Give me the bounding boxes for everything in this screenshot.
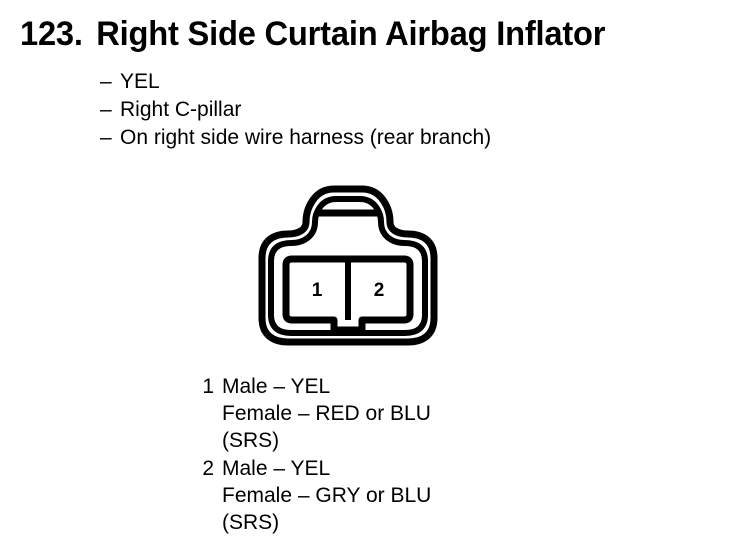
- pin-legend-line: Female – RED or BLU: [222, 400, 616, 427]
- connector-cavity-number-2: 2: [374, 280, 385, 301]
- description-item-1: –Right C-pillar: [100, 96, 700, 124]
- description-item-label: Right C-pillar: [120, 98, 241, 121]
- description-item-label: On right side wire harness (rear branch): [120, 126, 491, 149]
- pin-legend-number: 2: [196, 455, 214, 482]
- pin-legend-group-1: 1 Male – YEL Female – RED or BLU (SRS): [196, 373, 616, 454]
- description-item-0: –YEL: [100, 68, 700, 96]
- page-title: 123.Right Side Curtain Airbag Inflator: [20, 14, 707, 54]
- pin-legend-line: Male – YEL: [222, 373, 616, 400]
- pin-legend-number: 1: [196, 373, 214, 400]
- dash-marker: –: [100, 124, 120, 152]
- page-title-text: Right Side Curtain Airbag Inflator: [96, 15, 605, 53]
- dash-marker: –: [100, 68, 120, 96]
- pin-legend: 1 Male – YEL Female – RED or BLU (SRS) 2…: [196, 373, 616, 537]
- pin-legend-group-2: 2 Male – YEL Female – GRY or BLU (SRS): [196, 455, 616, 536]
- pin-legend-line: (SRS): [222, 509, 616, 536]
- pin-legend-line: Female – GRY or BLU: [222, 482, 616, 509]
- description-item-2: –On right side wire harness (rear branch…: [100, 124, 700, 152]
- dash-marker: –: [100, 96, 120, 124]
- description-list: –YEL –Right C-pillar –On right side wire…: [100, 68, 700, 152]
- page-title-number: 123.: [20, 15, 83, 53]
- connector-diagram: 1 2: [248, 178, 448, 354]
- connector-cavity-number-1: 1: [312, 280, 323, 301]
- pin-legend-line: (SRS): [222, 427, 616, 454]
- description-item-label: YEL: [120, 70, 160, 93]
- pin-legend-line: Male – YEL: [222, 455, 616, 482]
